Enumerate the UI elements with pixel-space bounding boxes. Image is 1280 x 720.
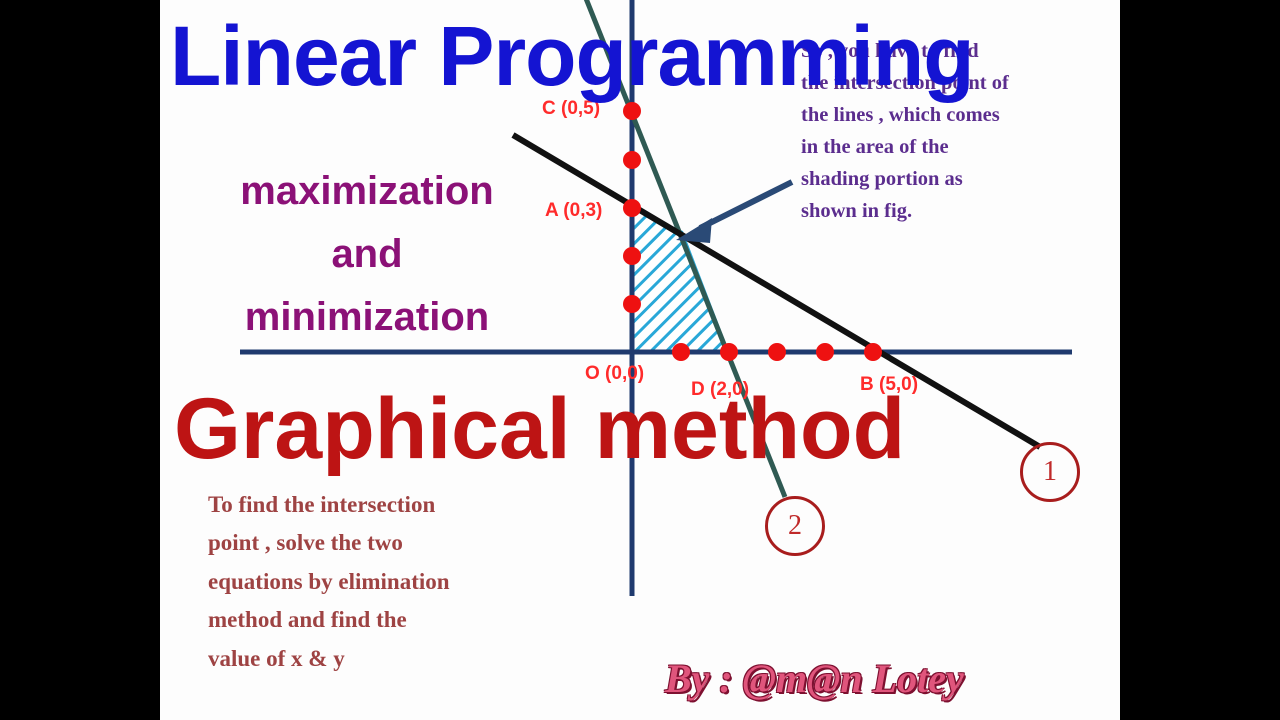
axis-dot-x4 xyxy=(816,343,834,361)
subtitle-line-3: minimization xyxy=(172,286,562,349)
axis-dot-x3 xyxy=(768,343,786,361)
axis-dot-y5 xyxy=(623,102,641,120)
graphical-method-heading: Graphical method xyxy=(174,386,1104,472)
axis-dot-y2 xyxy=(623,247,641,265)
circle-badge-1: 1 xyxy=(1020,442,1080,502)
left-note-text: To find the intersection point , solve t… xyxy=(208,486,578,678)
letterbox-left xyxy=(0,0,160,720)
subtitle-line-2: and xyxy=(172,223,562,286)
right-note-line-4: in the area of the xyxy=(801,132,1101,164)
subtitle-block: maximization and minimization xyxy=(172,160,562,350)
left-note-line-4: method and find the xyxy=(208,601,578,639)
signature-watermark: By : @m@n Lotey xyxy=(665,655,964,702)
right-note-line-5: shading portion as xyxy=(801,164,1101,196)
left-note-line-1: To find the intersection xyxy=(208,486,578,524)
circle-label-1: 1 xyxy=(1043,456,1057,488)
circle-label-2: 2 xyxy=(788,510,802,542)
subtitle-line-1: maximization xyxy=(172,160,562,223)
axis-dot-x2 xyxy=(720,343,738,361)
point-label-a: A (0,3) xyxy=(545,200,602,222)
circle-badge-2: 2 xyxy=(765,496,825,556)
axis-dot-y3 xyxy=(623,199,641,217)
slide-stage: C (0,5) A (0,3) O (0,0) D (2,0) B (5,0) … xyxy=(0,0,1280,720)
right-note-line-6: shown in fig. xyxy=(801,196,1101,228)
page-title: Linear Programming xyxy=(170,14,1120,98)
axis-dot-y1 xyxy=(623,295,641,313)
letterbox-right xyxy=(1120,0,1280,720)
axis-dot-x5 xyxy=(864,343,882,361)
axis-dot-x1 xyxy=(672,343,690,361)
left-note-line-5: value of x & y xyxy=(208,640,578,678)
left-note-line-2: point , solve the two xyxy=(208,524,578,562)
axis-dot-y4 xyxy=(623,151,641,169)
slide-canvas: C (0,5) A (0,3) O (0,0) D (2,0) B (5,0) … xyxy=(160,0,1120,720)
left-note-line-3: equations by elimination xyxy=(208,563,578,601)
right-note-line-3: the lines , which comes xyxy=(801,100,1101,132)
